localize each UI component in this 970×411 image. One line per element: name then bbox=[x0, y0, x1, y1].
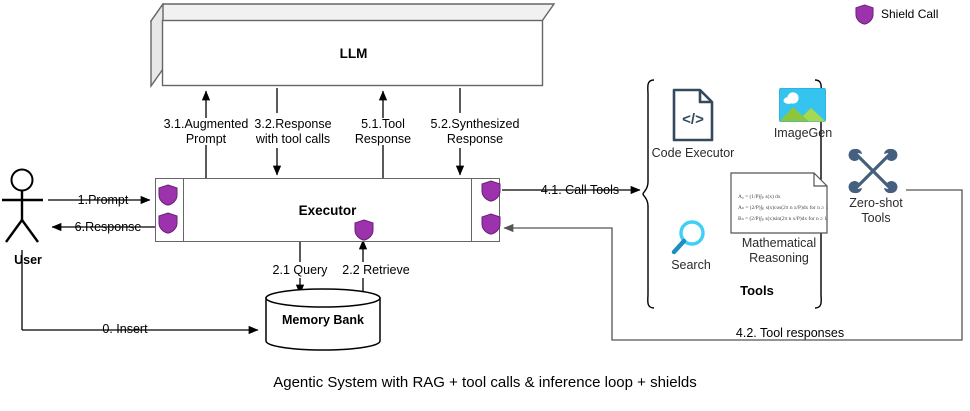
tool-label-search: Search bbox=[653, 258, 729, 273]
svg-text:Aₙ = (2/P)∫ₚ s(x)cos(2π n x/P): Aₙ = (2/P)∫ₚ s(x)cos(2π n x/P)dx for n ≥… bbox=[738, 204, 828, 211]
diagram-canvas: LLM 3.1.Augmented Prompt 3.2.Response wi… bbox=[0, 0, 970, 411]
svg-text:</>: </> bbox=[682, 111, 704, 128]
executor-node[interactable]: Executor bbox=[155, 178, 500, 242]
tool-label-code-executor: Code Executor bbox=[645, 146, 741, 161]
legend: Shield Call bbox=[855, 3, 967, 29]
tool-label-imagegen: ImageGen bbox=[760, 126, 846, 141]
shield-icon[interactable] bbox=[481, 213, 501, 235]
llm-node[interactable]: LLM bbox=[150, 3, 555, 88]
shield-icon[interactable] bbox=[158, 212, 178, 234]
edge-label-response: 6.Response bbox=[58, 220, 158, 235]
edge-label-insert: 0. Insert bbox=[70, 322, 180, 337]
tool-label-zero-shot-tools: Zero-shot Tools bbox=[838, 196, 914, 225]
user-label: User bbox=[2, 253, 54, 267]
legend-label: Shield Call bbox=[881, 7, 938, 21]
shield-icon[interactable] bbox=[481, 180, 501, 202]
edge-label-tool-response: 5.1.Tool Response bbox=[340, 117, 426, 146]
edge-label-response-with-tool-calls: 3.2.Response with tool calls bbox=[232, 117, 354, 146]
edge-label-synthesized-response: 5.2.Synthesized Response bbox=[418, 117, 532, 146]
executor-label: Executor bbox=[156, 179, 499, 241]
code-document-icon[interactable]: </> bbox=[672, 88, 714, 147]
crossed-wrenches-icon[interactable] bbox=[847, 145, 899, 202]
llm-label: LLM bbox=[162, 21, 545, 86]
edge-label-prompt: 1.Prompt bbox=[58, 193, 148, 208]
user-actor[interactable] bbox=[0, 168, 60, 248]
edge-label-retrieve: 2.2 Retrieve bbox=[330, 263, 422, 278]
shield-icon[interactable] bbox=[354, 219, 374, 241]
svg-text:A₀ = (1/P)∫ₚ s(x) dx: A₀ = (1/P)∫ₚ s(x) dx bbox=[738, 193, 781, 200]
shield-icon[interactable] bbox=[158, 184, 178, 206]
edge-label-tool-responses: 4.2. Tool responses bbox=[710, 326, 870, 341]
magnifier-icon[interactable] bbox=[670, 218, 710, 263]
image-picture-icon[interactable] bbox=[779, 88, 826, 127]
shield-icon bbox=[855, 4, 874, 25]
svg-text:Bₙ = (2/P)∫ₚ s(x)sin(2π n x/P): Bₙ = (2/P)∫ₚ s(x)sin(2π n x/P)dx for n ≥… bbox=[738, 215, 827, 222]
memory-bank-label: Memory Bank bbox=[265, 288, 381, 351]
tools-group-label: Tools bbox=[702, 283, 812, 298]
formula-document-icon[interactable]: A₀ = (1/P)∫ₚ s(x) dx Aₙ = (2/P)∫ₚ s(x)co… bbox=[730, 172, 828, 239]
diagram-caption: Agentic System with RAG + tool calls & i… bbox=[0, 374, 970, 391]
edge-label-call-tools: 4.1. Call Tools bbox=[525, 183, 635, 198]
tool-label-math-reasoning: Mathematical Reasoning bbox=[722, 236, 836, 265]
